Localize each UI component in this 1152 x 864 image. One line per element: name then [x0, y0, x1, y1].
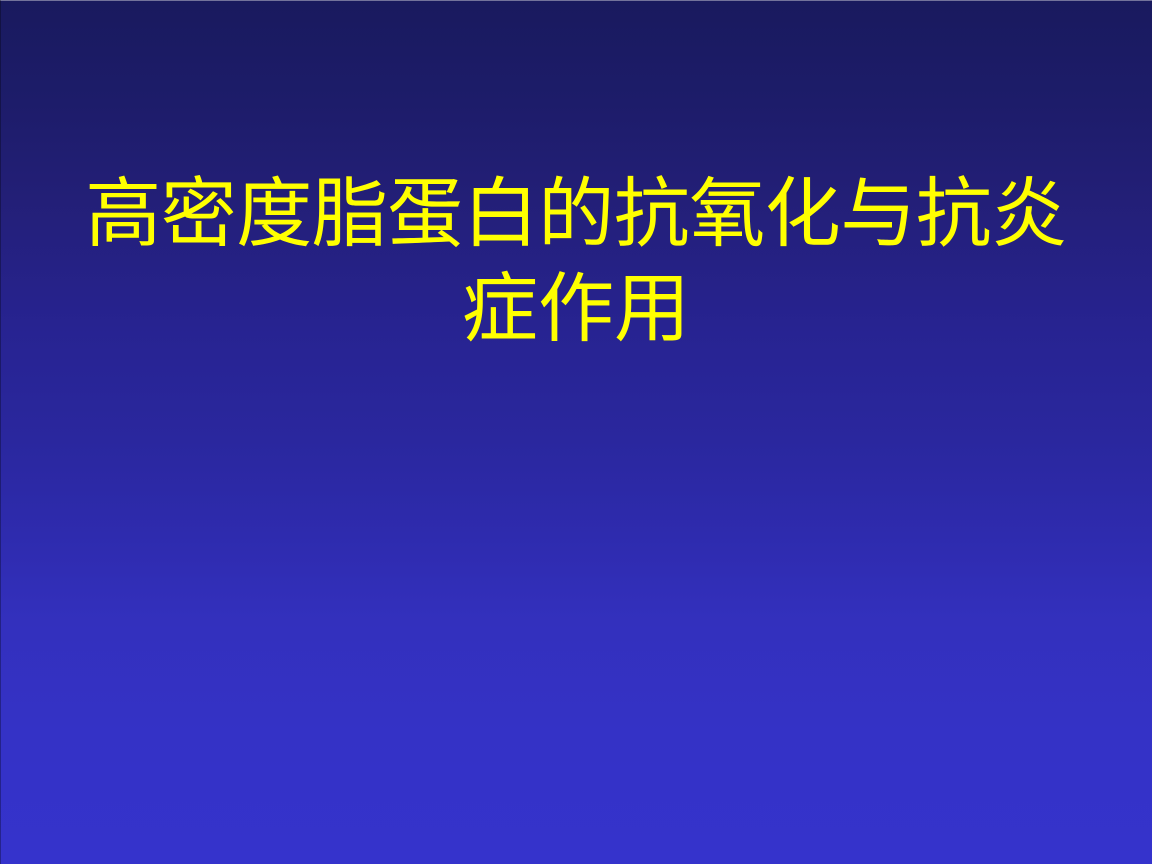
- slide-title[interactable]: 高密度脂蛋白的抗氧化与抗炎 症作用: [0, 166, 1152, 356]
- presentation-slide: 高密度脂蛋白的抗氧化与抗炎 症作用: [0, 0, 1152, 864]
- slide-title-line-2: 症作用: [0, 261, 1152, 356]
- slide-title-line-1: 高密度脂蛋白的抗氧化与抗炎: [0, 166, 1152, 261]
- slide-top-edge-highlight: [0, 0, 1152, 1]
- slide-body-placeholder[interactable]: [96, 400, 1056, 800]
- slide-left-edge-shadow: [0, 0, 1, 864]
